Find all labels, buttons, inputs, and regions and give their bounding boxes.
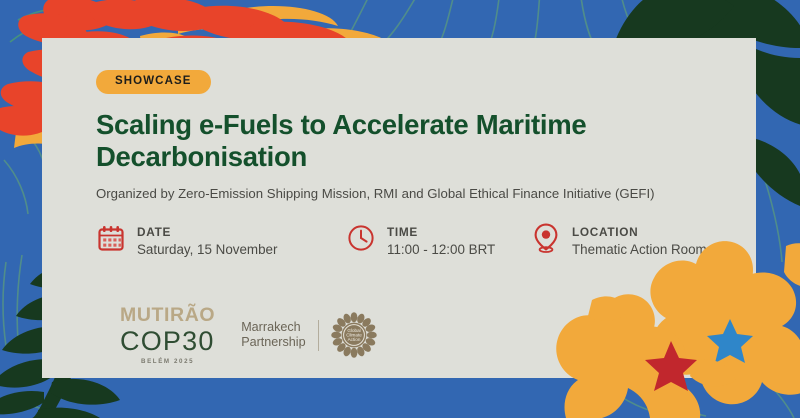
event-poster: SHOWCASE Scaling e-Fuels to Accelerate M… — [0, 0, 800, 418]
orange-flowers-decoration — [0, 0, 800, 418]
